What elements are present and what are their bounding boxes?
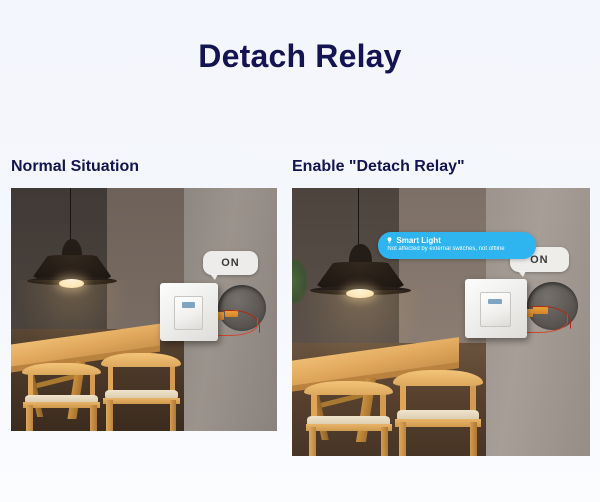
switch-rocker[interactable]	[480, 292, 511, 327]
chair-back	[393, 370, 482, 385]
lamp-cord	[70, 188, 72, 244]
lamp-cord	[358, 188, 360, 250]
chair-back	[22, 363, 102, 375]
chair-back	[304, 381, 393, 395]
wall-light-switch[interactable]	[465, 279, 528, 338]
chair	[22, 363, 102, 431]
switch-rocker[interactable]	[174, 296, 203, 331]
room-scene-detach: ON Smart Light Not affected by external …	[292, 188, 590, 456]
chair-apron	[23, 402, 100, 408]
caption-normal-situation: Normal Situation	[11, 158, 139, 176]
chair-leg	[309, 427, 316, 456]
chair-leg	[106, 400, 112, 431]
chair-leg	[26, 405, 32, 432]
chair-leg	[399, 422, 406, 456]
chair-leg	[470, 422, 477, 456]
photo-normal-situation: ON	[11, 188, 277, 431]
wall-light-switch[interactable]	[160, 283, 219, 341]
chair-apron	[306, 424, 392, 430]
room-scene-normal: ON	[11, 188, 277, 431]
switch-indicator	[488, 299, 502, 304]
tooltip-title-text: Smart Light	[396, 236, 440, 245]
photo-detach-relay: ON Smart Light Not affected by external …	[292, 188, 590, 456]
chair-apron	[395, 419, 481, 426]
switch-indicator	[182, 302, 195, 307]
chair	[393, 370, 482, 456]
bulb-icon	[387, 237, 392, 244]
caption-detach-relay: Enable "Detach Relay"	[292, 158, 465, 176]
chair-leg	[170, 400, 176, 431]
chair-apron	[103, 398, 180, 405]
page-root: Detach Relay Normal Situation Enable "De…	[0, 0, 600, 502]
chair-back	[101, 353, 181, 367]
tooltip-subtitle: Not affected by external switches, not o…	[387, 246, 527, 254]
chair	[304, 381, 393, 456]
tooltip-title-row: Smart Light	[387, 236, 527, 245]
chair	[101, 353, 181, 431]
smart-light-tooltip[interactable]: Smart Light Not affected by external swi…	[378, 232, 536, 259]
chair-leg	[90, 405, 96, 432]
chair-leg	[381, 427, 388, 456]
status-badge-label: ON	[530, 254, 549, 266]
status-badge-label: ON	[221, 257, 240, 269]
page-title: Detach Relay	[0, 38, 600, 75]
status-badge-on: ON	[203, 251, 259, 275]
